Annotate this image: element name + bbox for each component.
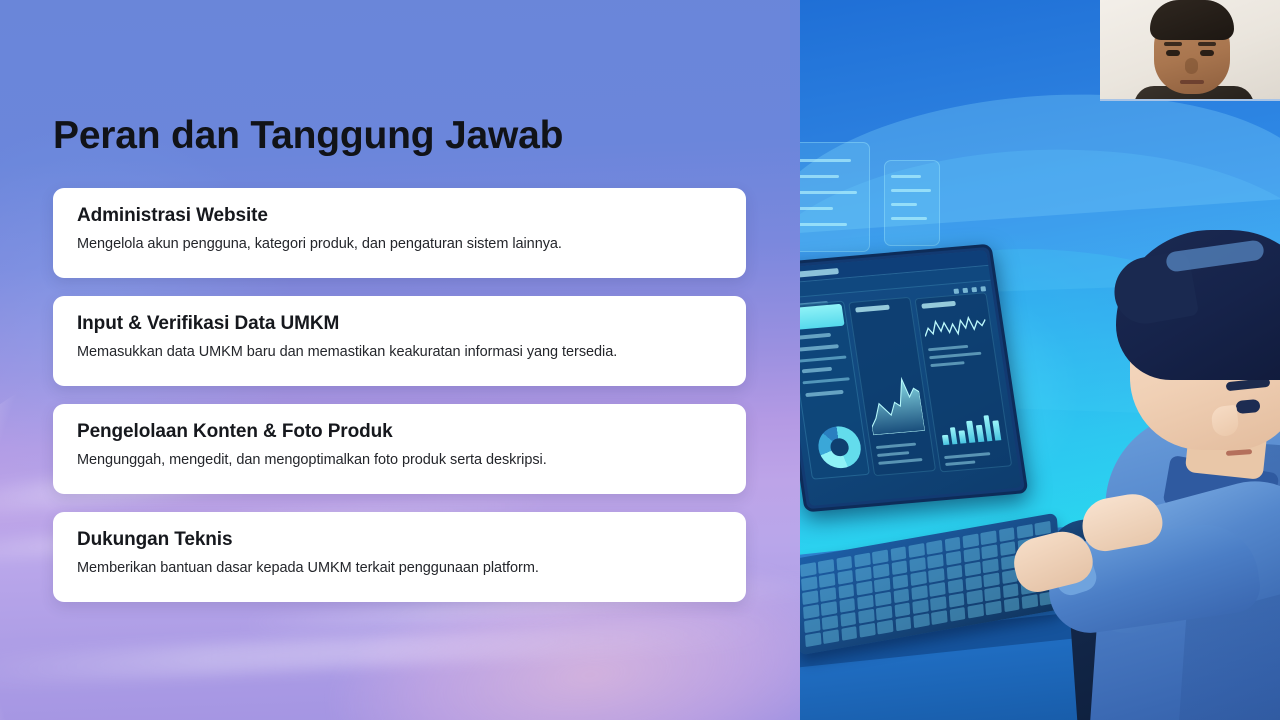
panel-text-row bbox=[928, 345, 968, 351]
bar-chart bbox=[939, 410, 1001, 445]
presenter-eye-left bbox=[1166, 50, 1180, 56]
panel-line bbox=[891, 217, 927, 220]
key bbox=[823, 630, 839, 644]
key bbox=[909, 557, 925, 571]
key bbox=[985, 601, 1001, 615]
bar bbox=[942, 435, 949, 446]
key bbox=[891, 560, 907, 574]
key bbox=[930, 596, 946, 610]
key bbox=[800, 562, 816, 576]
panel-text-row bbox=[876, 443, 916, 449]
card-description: Mengunggah, mengedit, dan mengoptimalkan… bbox=[77, 452, 722, 468]
key bbox=[911, 585, 927, 599]
presenter-mouth bbox=[1180, 80, 1204, 84]
key bbox=[947, 579, 963, 593]
panel-text-row bbox=[877, 451, 909, 457]
slide-title: Peran dan Tanggung Jawab bbox=[53, 114, 563, 159]
panel-line bbox=[891, 203, 917, 206]
floating-ui-panel bbox=[800, 142, 870, 252]
panel-text-row bbox=[945, 460, 975, 466]
toolbar-icon bbox=[953, 289, 959, 294]
key bbox=[1017, 524, 1033, 538]
card-title: Input & Verifikasi Data UMKM bbox=[77, 313, 722, 335]
presenter-eyebrow-right bbox=[1198, 42, 1216, 46]
key bbox=[944, 537, 960, 551]
panel-heading bbox=[921, 301, 956, 309]
card-title: Dukungan Teknis bbox=[77, 529, 722, 551]
key bbox=[967, 604, 983, 618]
donut-chart bbox=[816, 425, 864, 470]
monitor-screen bbox=[800, 250, 1022, 506]
bar bbox=[983, 415, 993, 441]
key bbox=[892, 575, 908, 589]
key bbox=[859, 623, 875, 637]
key bbox=[872, 549, 888, 563]
responsibility-card: Input & Verifikasi Data UMKM Memasukkan … bbox=[53, 296, 746, 386]
key bbox=[857, 595, 873, 609]
key bbox=[946, 565, 962, 579]
bar bbox=[966, 421, 975, 443]
person-illustration bbox=[1038, 196, 1280, 720]
panel-text-row bbox=[944, 452, 990, 459]
slide-panel: Peran dan Tanggung Jawab Administrasi We… bbox=[0, 0, 800, 720]
key bbox=[1000, 541, 1016, 555]
floating-ui-panel bbox=[884, 160, 940, 246]
key bbox=[877, 620, 893, 634]
panel-text-row bbox=[930, 361, 964, 367]
key bbox=[819, 573, 835, 587]
key bbox=[805, 633, 821, 647]
key bbox=[982, 559, 998, 573]
key bbox=[873, 564, 889, 578]
presenter-nose bbox=[1185, 58, 1198, 74]
key bbox=[839, 598, 855, 612]
key bbox=[838, 584, 854, 598]
panel-text-row bbox=[929, 352, 981, 360]
line-chart bbox=[922, 309, 988, 344]
toolbar-icon bbox=[971, 287, 977, 292]
bar bbox=[959, 430, 967, 444]
presenter-eyebrow-left bbox=[1164, 42, 1182, 46]
key bbox=[895, 617, 911, 631]
key bbox=[1003, 598, 1019, 612]
card-description: Mengelola akun pengguna, kategori produk… bbox=[77, 236, 722, 252]
key bbox=[963, 548, 979, 562]
key bbox=[966, 590, 982, 604]
key bbox=[913, 614, 929, 628]
key bbox=[803, 605, 819, 619]
card-description: Memasukkan data UMKM baru dan memastikan… bbox=[77, 344, 722, 360]
key bbox=[980, 530, 996, 544]
key bbox=[804, 619, 820, 633]
key bbox=[999, 527, 1015, 541]
responsibility-card: Administrasi Website Mengelola akun peng… bbox=[53, 188, 746, 278]
key bbox=[962, 534, 978, 548]
key bbox=[837, 570, 853, 584]
person-eye bbox=[1235, 399, 1260, 414]
key bbox=[890, 546, 906, 560]
key bbox=[875, 592, 891, 606]
key bbox=[876, 606, 892, 620]
key bbox=[983, 573, 999, 587]
panel-line bbox=[800, 175, 839, 178]
panel-heading bbox=[855, 305, 890, 313]
illustration-panel bbox=[800, 0, 1280, 720]
responsibility-card: Pengelolaan Konten & Foto Produk Mengung… bbox=[53, 404, 746, 494]
key bbox=[894, 603, 910, 617]
sidebar-item bbox=[805, 390, 844, 397]
panel-line bbox=[891, 175, 921, 178]
key bbox=[910, 571, 926, 585]
card-title: Administrasi Website bbox=[77, 205, 722, 227]
key bbox=[1021, 595, 1037, 609]
key bbox=[931, 611, 947, 625]
key bbox=[926, 540, 942, 554]
panel-line bbox=[800, 223, 847, 226]
key bbox=[965, 576, 981, 590]
key bbox=[949, 607, 965, 621]
key bbox=[984, 587, 1000, 601]
key bbox=[840, 612, 856, 626]
card-description: Memberikan bantuan dasar kepada UMKM ter… bbox=[77, 560, 722, 576]
sidebar-item bbox=[802, 367, 833, 374]
panel-line bbox=[800, 191, 857, 194]
panel-line bbox=[891, 189, 931, 192]
key bbox=[858, 609, 874, 623]
app-brand-text bbox=[800, 268, 839, 278]
bar bbox=[950, 427, 958, 444]
key bbox=[948, 593, 964, 607]
key bbox=[929, 582, 945, 596]
bar bbox=[976, 424, 984, 442]
responsibility-card-list: Administrasi Website Mengelola akun peng… bbox=[53, 188, 746, 620]
key bbox=[801, 576, 817, 590]
key bbox=[1002, 584, 1018, 598]
toolbar-icon bbox=[980, 286, 986, 291]
key bbox=[981, 544, 997, 558]
person-nose bbox=[1211, 405, 1240, 438]
key bbox=[854, 553, 870, 567]
key bbox=[822, 615, 838, 629]
sidebar-active-item bbox=[800, 304, 845, 330]
panel-line bbox=[800, 207, 833, 210]
presenter-hair bbox=[1150, 0, 1234, 40]
key bbox=[927, 554, 943, 568]
key bbox=[928, 568, 944, 582]
key bbox=[820, 587, 836, 601]
sidebar-divider bbox=[802, 377, 849, 384]
webcam-overlay[interactable] bbox=[1100, 0, 1280, 101]
toolbar-icon bbox=[962, 288, 968, 293]
area-chart bbox=[864, 369, 925, 435]
key bbox=[893, 589, 909, 603]
key bbox=[818, 559, 834, 573]
key bbox=[841, 626, 857, 640]
panel-line bbox=[800, 159, 851, 162]
key bbox=[821, 601, 837, 615]
sidebar-item bbox=[800, 344, 839, 351]
key bbox=[836, 556, 852, 570]
key bbox=[874, 578, 890, 592]
panel-text-row bbox=[878, 458, 922, 465]
sidebar-divider bbox=[800, 355, 846, 362]
computer-monitor bbox=[800, 244, 1028, 513]
key bbox=[912, 600, 928, 614]
key bbox=[856, 581, 872, 595]
key bbox=[945, 551, 961, 565]
presenter-eye-right bbox=[1200, 50, 1214, 56]
key bbox=[908, 543, 924, 557]
sidebar-item bbox=[800, 333, 831, 340]
key bbox=[802, 590, 818, 604]
card-title: Pengelolaan Konten & Foto Produk bbox=[77, 421, 722, 443]
responsibility-card: Dukungan Teknis Memberikan bantuan dasar… bbox=[53, 512, 746, 602]
key bbox=[964, 562, 980, 576]
presentation-screen: Peran dan Tanggung Jawab Administrasi We… bbox=[0, 0, 1280, 720]
key bbox=[855, 567, 871, 581]
bar bbox=[993, 420, 1002, 441]
